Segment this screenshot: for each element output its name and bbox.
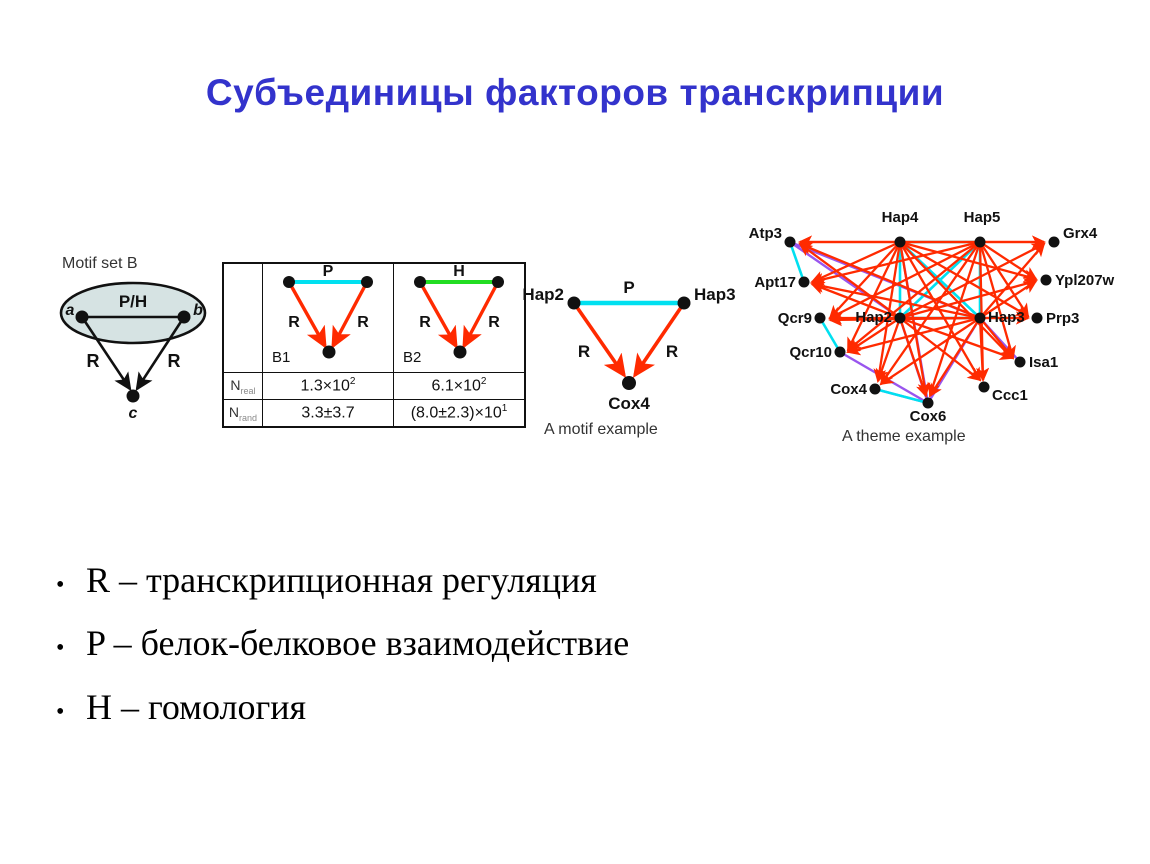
b2-node-target (454, 346, 467, 359)
theme-label-atp3: Atp3 (749, 225, 782, 242)
theme-node-apt17 (799, 277, 810, 288)
motif-edge-r-right-label: R (666, 342, 678, 361)
nreal-symbol: N (230, 377, 240, 393)
b2-label-r-left: R (419, 314, 431, 331)
bullet-glyph: • (52, 573, 86, 597)
nreal-b2-exponent: 2 (481, 376, 487, 387)
page-title: Субъединицы факторов транскрипции (0, 72, 1150, 114)
panel-motif-example: Hap2 Hap3 Cox4 P R R A motif example (512, 265, 742, 450)
node-c (127, 390, 140, 403)
theme-node-hap2 (895, 313, 906, 324)
theme-label-qcr9: Qcr9 (778, 310, 812, 327)
table-row-nrand: Nrand 3.3±3.7 (8.0±2.3)×101 (223, 400, 525, 428)
statistics-table: P R R B1 (222, 262, 526, 428)
b1-code: B1 (272, 349, 290, 366)
theme-node-grx4 (1049, 237, 1060, 248)
theme-node-prp3 (1032, 313, 1043, 324)
theme-label-hap4: Hap4 (882, 209, 919, 226)
panel-motif-set-b: Motif set B P/H a b c R R (52, 255, 227, 450)
node-b (178, 311, 191, 324)
theme-node-qcr10 (835, 347, 846, 358)
theme-label-cox4: Cox4 (830, 381, 867, 398)
theme-node-cox6 (923, 398, 934, 409)
list-item: • R – транскрипционная регуляция (52, 560, 952, 601)
slide-canvas: Субъединицы факторов транскрипции Motif … (0, 0, 1150, 864)
motif-node-hap3 (678, 297, 691, 310)
node-a (76, 311, 89, 324)
nrand-subscript: rand (239, 412, 257, 422)
motif-edge-r-left-label: R (578, 342, 590, 361)
motif-label-hap3: Hap3 (694, 285, 736, 304)
theme-node-atp3 (785, 237, 796, 248)
motif-example-diagram: Hap2 Hap3 Cox4 P R R (512, 265, 742, 415)
table-row-diagrams: P R R B1 (223, 263, 525, 373)
diagram-cell-b2: H R R B2 (394, 263, 526, 373)
diagram-cell-b1: P R R B1 (263, 263, 394, 373)
motif-label-cox4: Cox4 (608, 394, 650, 413)
b1-node-right (361, 276, 373, 288)
theme-node-ccc1 (979, 382, 990, 393)
b2-node-right (492, 276, 504, 288)
legend-item-p: P – белок-белковое взаимодействие (86, 623, 629, 664)
row-header-nreal: Nreal (223, 373, 263, 400)
theme-label-hap3: Hap3 (988, 309, 1025, 326)
motif-label-hap2: Hap2 (522, 285, 564, 304)
theme-label-hap5: Hap5 (964, 209, 1001, 226)
theme-node-hap4 (895, 237, 906, 248)
nreal-b2-value: 6.1×10 (432, 378, 481, 395)
b1-node-left (283, 276, 295, 288)
theme-node-hap5 (975, 237, 986, 248)
motif-set-caption: Motif set B (62, 255, 138, 273)
table-row-nreal: Nreal 1.3×102 6.1×102 (223, 373, 525, 400)
theme-label-ccc1: Ccc1 (992, 387, 1028, 404)
theme-label-apt17: Apt17 (754, 274, 796, 291)
list-item: • H – гомология (52, 687, 952, 728)
cell-nreal-b2: 6.1×102 (394, 373, 526, 400)
group-label: P/H (119, 292, 147, 311)
motif-set-b-diagram: P/H a b c R R (52, 255, 227, 425)
b1-label-r-left: R (288, 314, 300, 331)
table-corner-cell (223, 263, 263, 373)
theme-node-qcr9 (815, 313, 826, 324)
theme-node-cox4 (870, 384, 881, 395)
legend-item-r: R – транскрипционная регуляция (86, 560, 597, 601)
b1-top-label: P (323, 263, 334, 280)
theme-example-caption: A theme example (842, 428, 966, 446)
cell-nreal-b1: 1.3×102 (263, 373, 394, 400)
motif-example-caption: A motif example (544, 421, 658, 439)
node-b-label: b (193, 302, 203, 319)
b1-node-target (323, 346, 336, 359)
nreal-b1-exponent: 2 (350, 376, 356, 387)
theme-node-hap3 (975, 313, 986, 324)
nrand-b1-value: 3.3±3.7 (301, 405, 354, 422)
cell-nrand-b2: (8.0±2.3)×101 (394, 400, 526, 428)
panel-statistics-table: P R R B1 (222, 262, 526, 428)
theme-label-ypl207w: Ypl207w (1055, 272, 1115, 289)
b2-node-left (414, 276, 426, 288)
theme-label-cox6: Cox6 (910, 408, 947, 425)
nreal-subscript: real (241, 385, 256, 395)
b2-code: B2 (403, 349, 421, 366)
edge-a-c-label: R (87, 351, 100, 371)
motif-edge-p-label: P (623, 278, 634, 297)
theme-label-prp3: Prp3 (1046, 310, 1079, 327)
motif-node-hap2 (568, 297, 581, 310)
b2-top-label: H (453, 263, 465, 280)
list-item: • P – белок-белковое взаимодействие (52, 623, 952, 664)
motif-edge-r-right (635, 303, 684, 375)
theme-label-grx4: Grx4 (1063, 225, 1098, 242)
motif-edge-r-left (574, 303, 624, 375)
nrand-symbol: N (229, 404, 239, 420)
panel-theme-example: Hap4 Hap5 Hap2 Hap3 Atp3 Apt17 Qcr9 Qcr1… (742, 200, 1142, 455)
nrand-b2-value: (8.0±2.3)×10 (411, 405, 502, 422)
nrand-b2-exponent: 1 (502, 403, 508, 414)
bullet-glyph: • (52, 636, 86, 660)
b2-label-r-right: R (488, 314, 500, 331)
legend-list: • R – транскрипционная регуляция • P – б… (52, 560, 952, 750)
legend-item-h: H – гомология (86, 687, 306, 728)
b1-label-r-right: R (357, 314, 369, 331)
theme-label-isa1: Isa1 (1029, 354, 1058, 371)
node-a-label: a (66, 302, 75, 319)
bullet-glyph: • (52, 700, 86, 724)
edge-b-c-label: R (168, 351, 181, 371)
theme-example-diagram: Hap4 Hap5 Hap2 Hap3 Atp3 Apt17 Qcr9 Qcr1… (742, 200, 1142, 425)
theme-node-isa1 (1015, 357, 1026, 368)
theme-label-qcr10: Qcr10 (789, 344, 832, 361)
theme-node-ypl207w (1041, 275, 1052, 286)
row-header-nrand: Nrand (223, 400, 263, 428)
node-c-label: c (129, 405, 138, 422)
motif-node-cox4 (622, 376, 636, 390)
nreal-b1-value: 1.3×10 (301, 378, 350, 395)
theme-label-hap2: Hap2 (855, 309, 892, 326)
figure-band: Motif set B P/H a b c R R (0, 195, 1150, 480)
cell-nrand-b1: 3.3±3.7 (263, 400, 394, 428)
